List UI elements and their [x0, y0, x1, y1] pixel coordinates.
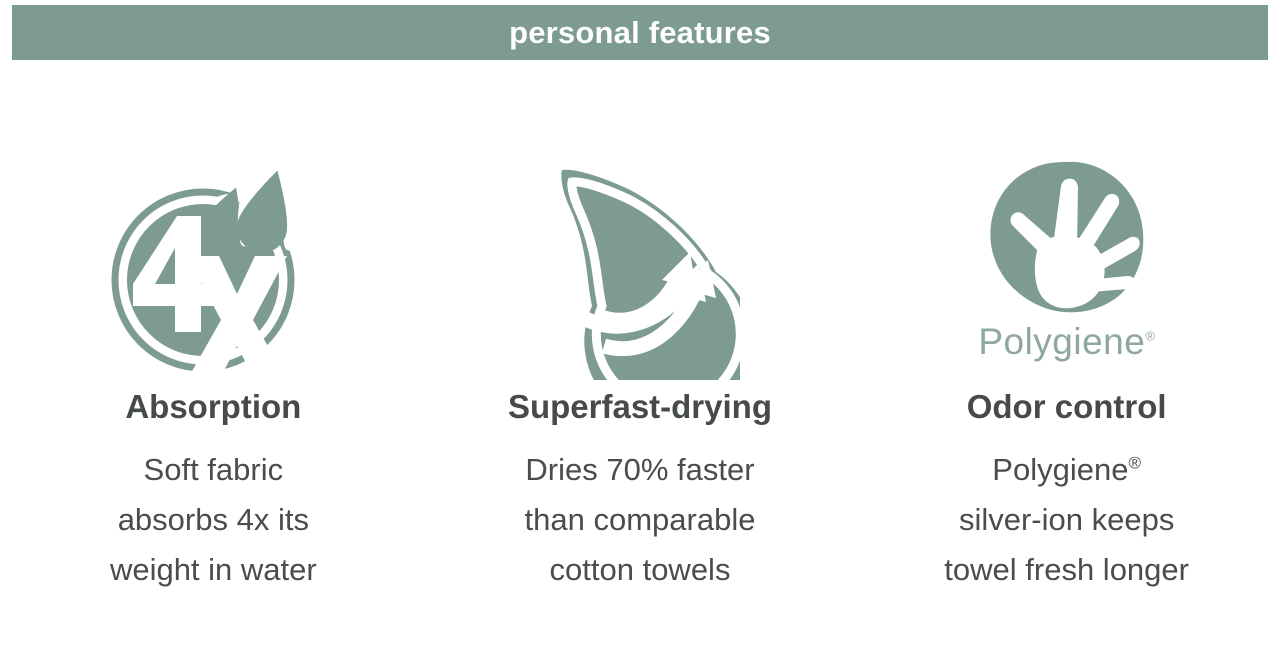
- body-line: absorbs 4x its: [110, 495, 317, 545]
- polygiene-brand-text: Polygiene: [978, 321, 1145, 362]
- odor-control-icon-area: Polygiene®: [853, 60, 1280, 390]
- features-row: Absorption Soft fabric absorbs 4x its we…: [0, 60, 1280, 647]
- feature-heading-superfast-drying: Superfast-drying: [508, 390, 772, 423]
- feature-card-odor-control: Polygiene® Odor control Polygiene® silve…: [853, 60, 1280, 647]
- fast-drying-droplet-arrows-icon: [540, 160, 740, 380]
- body-line-brand: Polygiene: [992, 452, 1128, 487]
- registered-trademark-icon: ®: [1145, 329, 1155, 344]
- page-title: personal features: [509, 17, 771, 48]
- body-line: than comparable: [525, 495, 756, 545]
- feature-card-superfast-drying: Superfast-drying Dries 70% faster than c…: [427, 60, 854, 647]
- feature-body-absorption: Soft fabric absorbs 4x its weight in wat…: [110, 445, 317, 596]
- body-line: Dries 70% faster: [525, 445, 756, 495]
- body-line: silver-ion keeps: [944, 495, 1189, 545]
- body-line: Soft fabric: [110, 445, 317, 495]
- body-line: Polygiene®: [944, 445, 1189, 495]
- absorption-icon-area: [0, 60, 427, 390]
- body-line: towel fresh longer: [944, 545, 1189, 595]
- drying-icon-area: [427, 60, 854, 390]
- absorption-4x-droplet-icon: [103, 160, 323, 380]
- feature-card-absorption: Absorption Soft fabric absorbs 4x its we…: [0, 60, 427, 647]
- page-header-banner: personal features: [12, 5, 1268, 60]
- feature-body-odor-control: Polygiene® silver-ion keeps towel fresh …: [944, 445, 1189, 596]
- registered-trademark-icon: ®: [1128, 454, 1141, 473]
- body-line: weight in water: [110, 545, 317, 595]
- polygiene-brand-mark: Polygiene®: [978, 323, 1155, 360]
- feature-heading-odor-control: Odor control: [967, 390, 1167, 423]
- odor-control-hand-icon: [987, 160, 1147, 315]
- feature-body-superfast-drying: Dries 70% faster than comparable cotton …: [525, 445, 756, 596]
- body-line: cotton towels: [525, 545, 756, 595]
- feature-heading-absorption: Absorption: [125, 390, 301, 423]
